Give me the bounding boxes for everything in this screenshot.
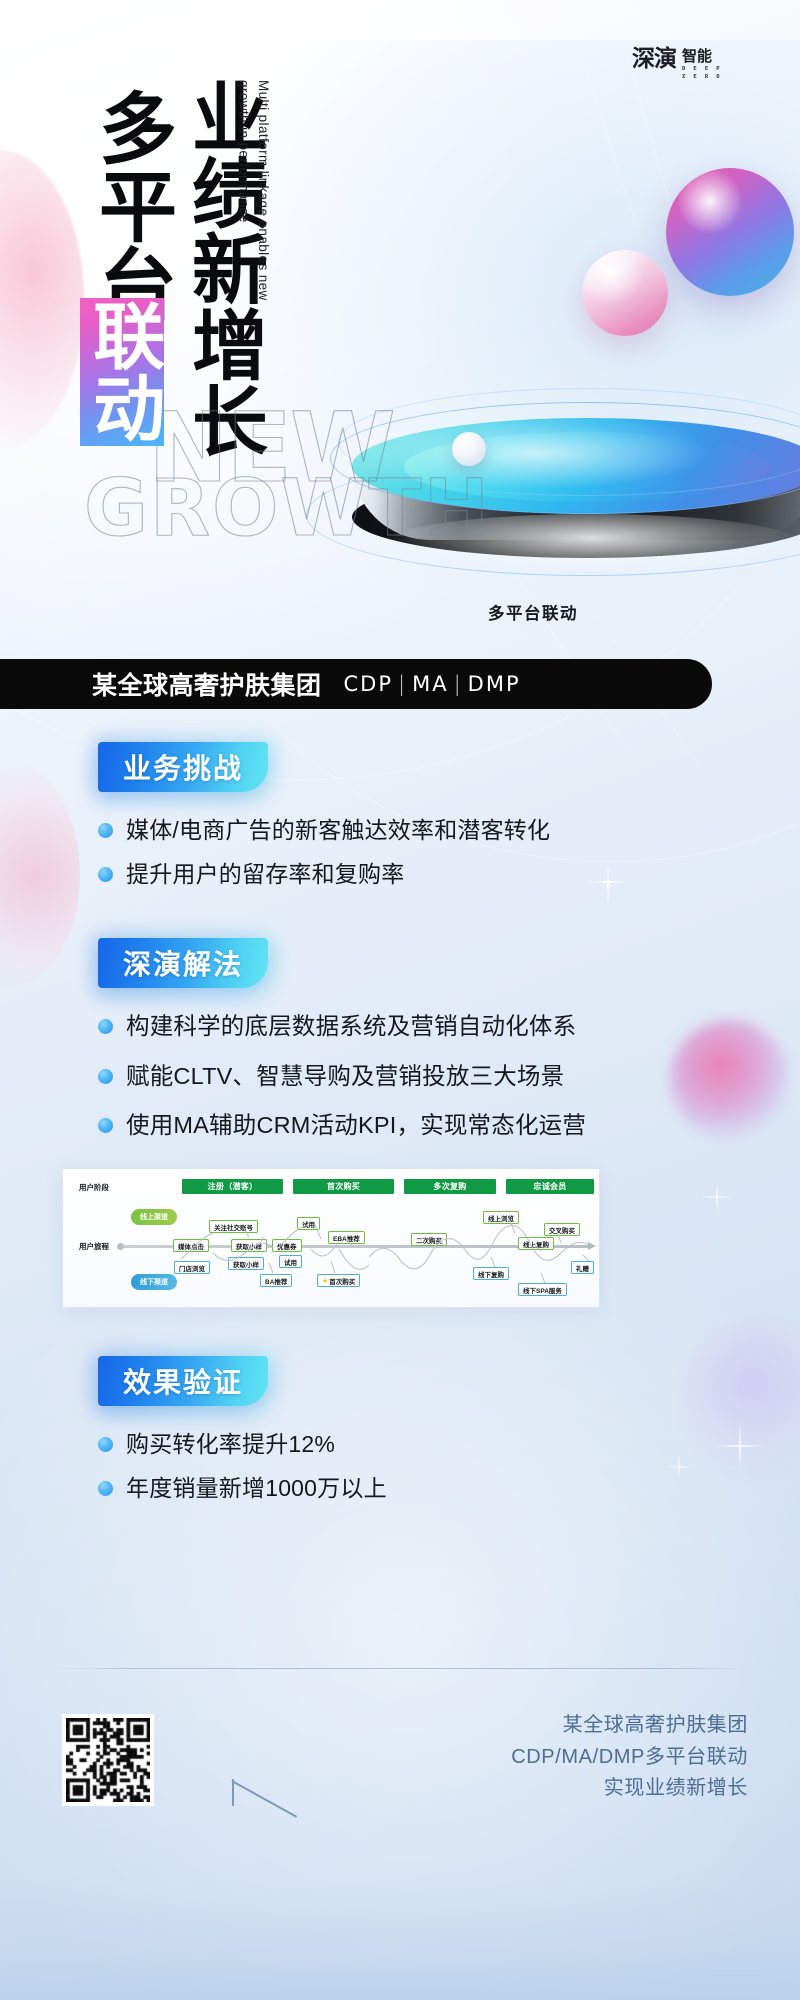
bullet-dot-icon xyxy=(98,1437,113,1452)
logo-en-line1: D E E P xyxy=(682,67,722,73)
qr-code-pattern xyxy=(66,1718,150,1802)
journey-node-online: 试用 xyxy=(297,1217,320,1230)
bullet-text: 购买转化率提升12% xyxy=(126,1428,335,1461)
list-item: 年度销量新增1000万以上 xyxy=(98,1472,800,1505)
journey-node-offline-starred: ★首次购买 xyxy=(317,1274,360,1287)
client-products: CDP|MA|DMP xyxy=(344,672,521,696)
journey-stage-first-purchase: 首次购买 xyxy=(293,1179,394,1194)
outline-text-growth: GROWTH xyxy=(84,464,491,554)
list-item: 构建科学的底层数据系统及营销自动化体系 xyxy=(98,1010,800,1043)
bullet-text: 年度销量新增1000万以上 xyxy=(126,1472,387,1505)
journey-start-dot xyxy=(117,1243,124,1250)
journey-node-offline: 门店浏览 xyxy=(174,1261,210,1274)
footer-divider xyxy=(56,1668,748,1669)
bullet-list-solution: 构建科学的底层数据系统及营销自动化体系 赋能CLTV、智慧导购及营销投放三大场景… xyxy=(98,1010,800,1142)
poster-canvas: 深演 智能 D E E P Z E R O NEW GROWTH 多平台 联动 … xyxy=(0,0,800,2000)
bottom-gradient-fade xyxy=(0,1880,800,2000)
bullet-dot-icon xyxy=(98,867,113,882)
journey-stage-register: 注册（潜客） xyxy=(182,1179,283,1194)
list-item: 媒体/电商广告的新客触达效率和潜客转化 xyxy=(98,814,800,847)
product-cdp: CDP xyxy=(344,672,394,696)
client-name: 某全球高奢护肤集团 xyxy=(92,666,322,702)
journey-stage-loyal-member: 忠诚会员 xyxy=(506,1179,594,1194)
logo-en-line2: Z E R O xyxy=(682,75,722,81)
journey-stage-repeat-purchase: 多次复购 xyxy=(404,1179,496,1194)
content-body: 业务挑战 媒体/电商广告的新客触达效率和潜客转化 提升用户的留存率和复购率 深演… xyxy=(0,742,800,1516)
journey-node-online: 交叉购买 xyxy=(544,1223,580,1236)
list-item: 使用MA辅助CRM活动KPI，实现常态化运营 xyxy=(98,1109,800,1142)
list-item: 购买转化率提升12% xyxy=(98,1428,800,1461)
user-journey-diagram: 用户阶段 用户旅程 注册（潜客） 首次购买 多次复购 忠诚会员 线上渠道 线下渠… xyxy=(62,1168,600,1308)
journey-node-online: 获取小样 xyxy=(231,1239,267,1252)
product-separator: | xyxy=(449,672,468,696)
footer-line-1: 某全球高奢护肤集团 xyxy=(511,1710,748,1742)
bullet-dot-icon xyxy=(98,1118,113,1133)
bullet-text: 构建科学的底层数据系统及营销自动化体系 xyxy=(126,1010,576,1043)
hero-sublabel: 多平台联动 xyxy=(488,600,578,624)
hero-title-left: 多平台 xyxy=(92,88,170,322)
journey-node-offline: BA推荐 xyxy=(260,1274,292,1287)
logo-mark-text: 深演 xyxy=(632,48,676,71)
bullet-text: 提升用户的留存率和复购率 xyxy=(126,858,404,891)
section-title-badge-results: 效果验证 xyxy=(98,1356,268,1406)
hero-section: NEW GROWTH 多平台 联动 业绩新增长 Multi platform l… xyxy=(0,0,800,760)
bullet-dot-icon xyxy=(98,1019,113,1034)
hero-vertical-english: Multi platform linkage enables new growt… xyxy=(234,80,273,310)
bullet-dot-icon xyxy=(98,823,113,838)
product-separator: | xyxy=(393,672,412,696)
journey-axis-label-journey: 用户旅程 xyxy=(79,1241,109,1252)
section-results: 效果验证 购买转化率提升12% 年度销量新增1000万以上 xyxy=(98,1356,800,1504)
bullet-text: 媒体/电商广告的新客触达效率和潜客转化 xyxy=(126,814,550,847)
journey-channel-online: 线上渠道 xyxy=(131,1209,177,1225)
decorative-arrow-icon xyxy=(232,1780,306,1824)
brand-logo[interactable]: 深演 智能 D E E P Z E R O xyxy=(632,48,722,80)
bullet-text: 使用MA辅助CRM活动KPI，实现常态化运营 xyxy=(126,1109,586,1142)
section-solution: 深演解法 构建科学的底层数据系统及营销自动化体系 赋能CLTV、智慧导购及营销投… xyxy=(98,938,800,1142)
journey-node-offline: 线下SPA服务 xyxy=(518,1283,567,1296)
journey-node-online: 线上浏览 xyxy=(483,1211,519,1224)
journey-node-online: 媒体点击 xyxy=(173,1239,209,1252)
journey-channel-offline: 线下渠道 xyxy=(131,1274,177,1290)
client-bar: 某全球高奢护肤集团 CDP|MA|DMP xyxy=(0,659,712,709)
section-title-results: 效果验证 xyxy=(123,1361,243,1401)
hero-title-highlight: 联动 xyxy=(80,296,164,446)
section-title-challenge: 业务挑战 xyxy=(123,747,243,787)
journey-node-offline: 获取小样 xyxy=(228,1257,264,1270)
journey-node-online: 优惠券 xyxy=(272,1239,302,1252)
section-title-badge-challenge: 业务挑战 xyxy=(98,742,268,792)
section-title-badge-solution: 深演解法 xyxy=(98,938,268,988)
section-challenge: 业务挑战 媒体/电商广告的新客触达效率和潜客转化 提升用户的留存率和复购率 xyxy=(98,742,800,890)
journey-node-online: 二次购买 xyxy=(411,1233,447,1246)
product-ma: MA xyxy=(412,672,448,696)
footer-line-2: CDP/MA/DMP多平台联动 xyxy=(511,1742,748,1774)
bullet-dot-icon xyxy=(98,1069,113,1084)
qr-code[interactable] xyxy=(62,1714,154,1806)
bullet-dot-icon xyxy=(98,1481,113,1496)
journey-node-offline: 线下复购 xyxy=(473,1267,509,1280)
list-item: 提升用户的留存率和复购率 xyxy=(98,858,800,891)
bullet-list-results: 购买转化率提升12% 年度销量新增1000万以上 xyxy=(98,1428,800,1504)
list-item: 赋能CLTV、智慧导购及营销投放三大场景 xyxy=(98,1060,800,1093)
section-title-solution: 深演解法 xyxy=(123,943,243,983)
bullet-text: 赋能CLTV、智慧导购及营销投放三大场景 xyxy=(126,1060,564,1093)
footer-line-3: 实现业绩新增长 xyxy=(511,1773,748,1805)
journey-node-offline: 礼赠 xyxy=(571,1261,594,1274)
journey-node-online: 线上复购 xyxy=(518,1237,554,1250)
logo-cn-text: 智能 xyxy=(682,49,722,64)
journey-node-online: EBA推荐 xyxy=(328,1231,365,1244)
journey-node-online: 关注社交账号 xyxy=(209,1220,258,1233)
product-dmp: DMP xyxy=(468,672,521,696)
journey-node-offline: 试用 xyxy=(279,1255,302,1268)
journey-node-label: 首次购买 xyxy=(329,1276,355,1286)
star-icon: ★ xyxy=(322,1277,328,1285)
journey-axis-label-stage: 用户阶段 xyxy=(79,1182,109,1193)
footer-text-block: 某全球高奢护肤集团 CDP/MA/DMP多平台联动 实现业绩新增长 xyxy=(511,1710,748,1805)
bullet-list-challenge: 媒体/电商广告的新客触达效率和潜客转化 提升用户的留存率和复购率 xyxy=(98,814,800,890)
